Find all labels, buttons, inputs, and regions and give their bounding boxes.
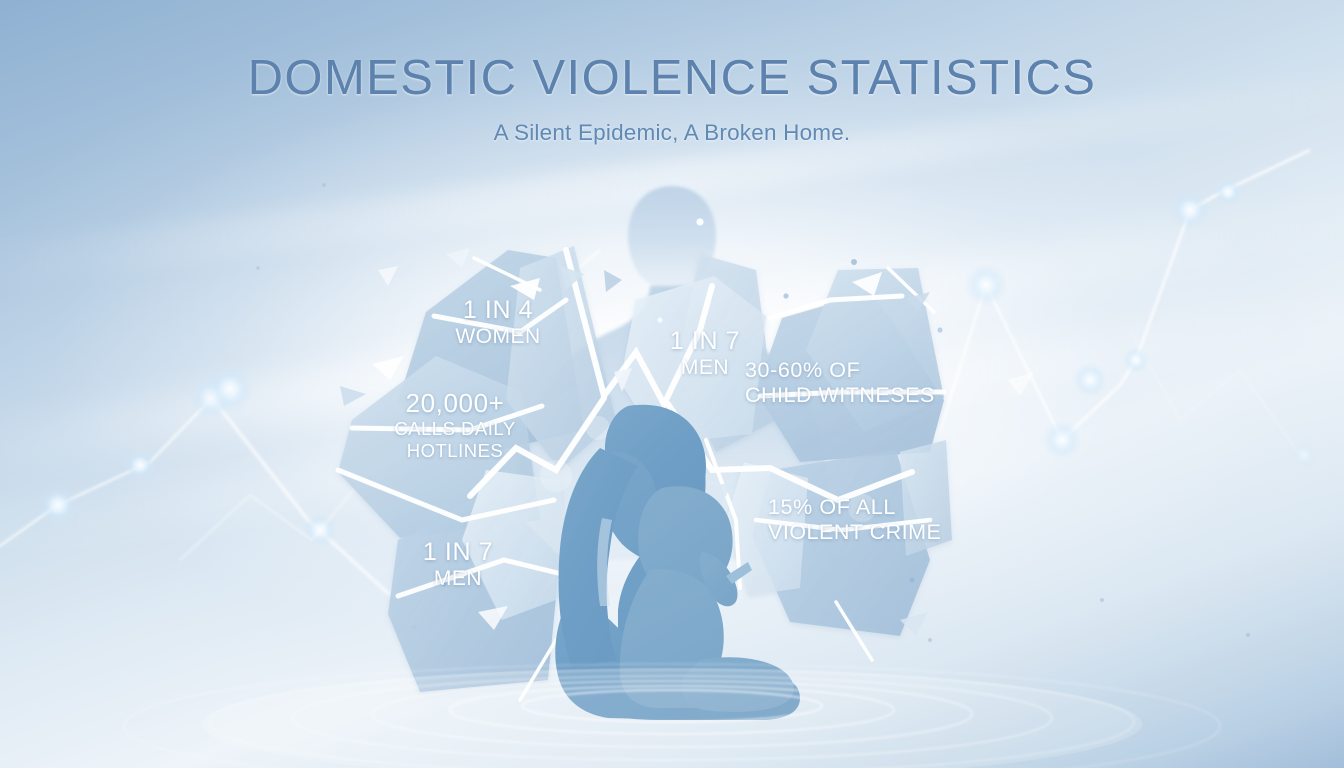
stat-men-bottom-label: MEN (378, 567, 538, 591)
stat-violent-crime: 15% OF ALL VIOLENT CRIME (768, 495, 968, 545)
stat-crime-label: VIOLENT CRIME (768, 520, 968, 545)
stat-crime-value: 15% OF ALL (768, 495, 968, 520)
stat-women-label: WOMEN (418, 325, 578, 349)
stat-women-value: 1 IN 4 (418, 296, 578, 325)
stat-men-top: 1 IN 7 MEN (625, 327, 785, 380)
stat-child-label: CHILD WITNESES (745, 383, 955, 408)
stat-child-witnesses: 30-60% OF CHILD WITNESES (745, 358, 955, 408)
stat-calls-label: CALLS DAILY (370, 418, 540, 439)
stat-men-top-value: 1 IN 7 (625, 327, 785, 356)
statistics-labels: 1 IN 4 WOMEN 1 IN 7 MEN 30-60% OF CHILD … (0, 0, 1344, 768)
stat-calls-label2: HOTLINES (370, 440, 540, 461)
stat-men-top-label: MEN (625, 356, 785, 380)
stat-men-bottom: 1 IN 7 MEN (378, 538, 538, 591)
stat-calls-value: 20,000+ (370, 388, 540, 418)
stat-women: 1 IN 4 WOMEN (418, 296, 578, 349)
stat-men-bottom-value: 1 IN 7 (378, 538, 538, 567)
infographic-poster: 1 IN 4 WOMEN 1 IN 7 MEN 30-60% OF CHILD … (0, 0, 1344, 768)
stat-child-value: 30-60% OF (745, 358, 955, 383)
stat-hotline-calls: 20,000+ CALLS DAILY HOTLINES (370, 388, 540, 461)
